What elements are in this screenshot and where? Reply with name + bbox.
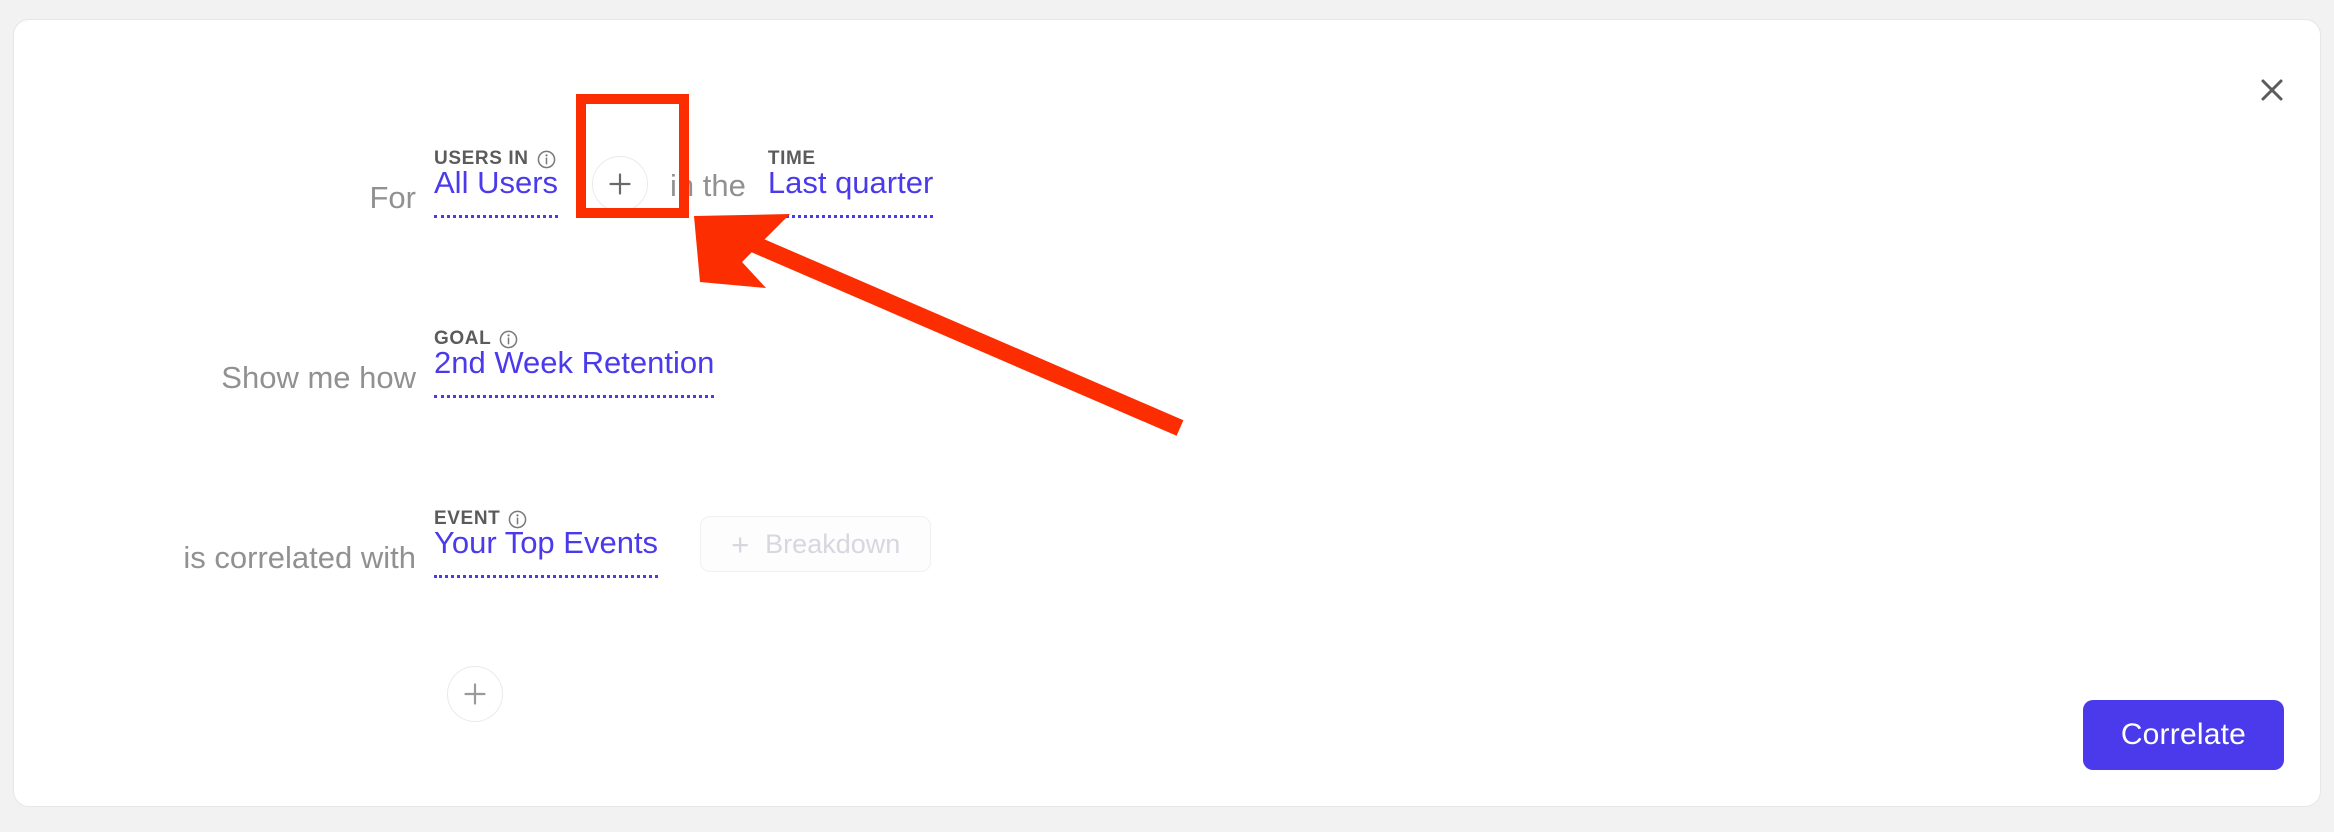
connector-in-the: in the [670,166,746,218]
caption-goal: GOAL [434,328,518,350]
plus-icon [462,681,488,707]
add-breakdown-button[interactable]: + Breakdown [700,516,931,572]
close-icon[interactable] [2250,68,2294,112]
plus-icon: + [731,529,749,560]
info-icon[interactable] [499,330,518,349]
value-goal[interactable]: 2nd Week Retention [434,343,714,398]
plus-icon [607,171,633,197]
add-breakdown-label: Breakdown [765,529,900,560]
add-query-row-button[interactable] [447,666,503,722]
info-icon[interactable] [508,510,527,529]
value-users-in[interactable]: All Users [434,163,558,218]
inline-add-cohort-button[interactable] [592,156,648,212]
row-prefix-is-correlated-with: is correlated with [14,538,434,578]
field-time: TIME Last quarter [768,163,933,218]
row-prefix-show-me-how: Show me how [14,358,434,398]
value-event[interactable]: Your Top Events [434,523,658,578]
caption-event-label: EVENT [434,508,500,530]
field-goal: GOAL 2nd Week Retention [434,343,714,398]
query-row-event: is correlated with EVENT Your Top Event [14,498,931,578]
caption-time-label: TIME [768,148,816,170]
correlate-button[interactable]: Correlate [2083,700,2284,770]
field-users-in: USERS IN All Users [434,163,558,218]
caption-time: TIME [768,148,816,170]
caption-users-in-label: USERS IN [434,148,529,170]
value-time[interactable]: Last quarter [768,163,933,218]
correlation-query-card: For USERS IN All Users [13,19,2321,807]
query-row-users: For USERS IN All Users [14,138,933,218]
screen-root: For USERS IN All Users [0,0,2334,832]
caption-event: EVENT [434,508,527,530]
caption-goal-label: GOAL [434,328,491,350]
field-event: EVENT Your Top Events [434,523,658,578]
caption-users-in: USERS IN [434,148,556,170]
row-prefix-for: For [14,178,434,218]
query-row-goal: Show me how GOAL 2nd Week Retention [14,318,714,398]
info-icon[interactable] [537,150,556,169]
